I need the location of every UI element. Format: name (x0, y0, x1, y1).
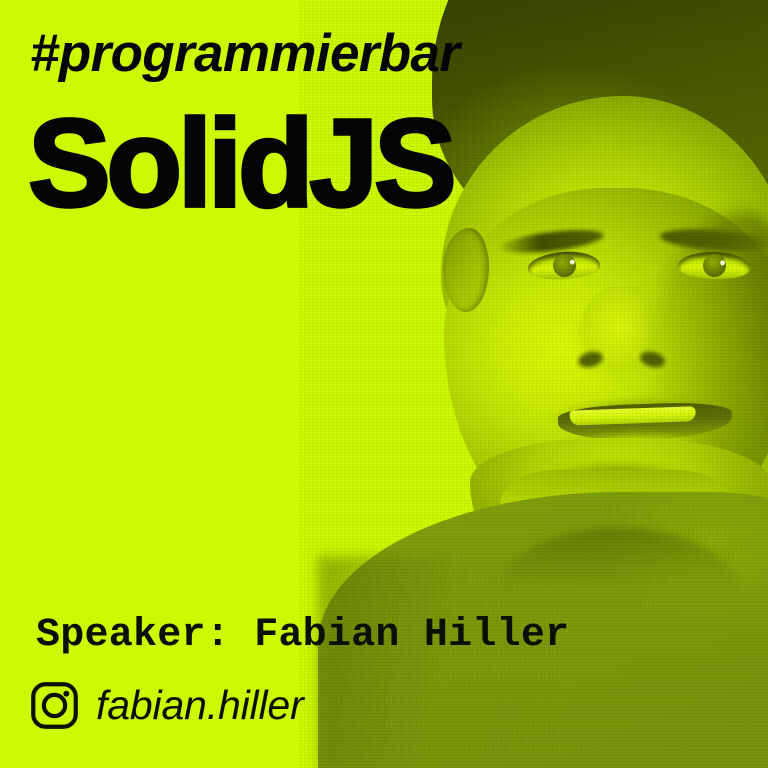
brand-hashtag: #programmierbar (30, 23, 459, 84)
speaker-line: Speaker: Fabian Hiller (36, 613, 569, 658)
instagram-handle-row: fabian.hiller (30, 681, 304, 730)
podcast-episode-poster: #programmierbar SolidJS Speaker: Fabian … (0, 0, 768, 768)
poster-text-layer: #programmierbar SolidJS Speaker: Fabian … (0, 0, 768, 768)
instagram-handle-text: fabian.hiller (96, 682, 304, 729)
instagram-icon (30, 681, 79, 730)
episode-title: SolidJS (28, 102, 452, 226)
